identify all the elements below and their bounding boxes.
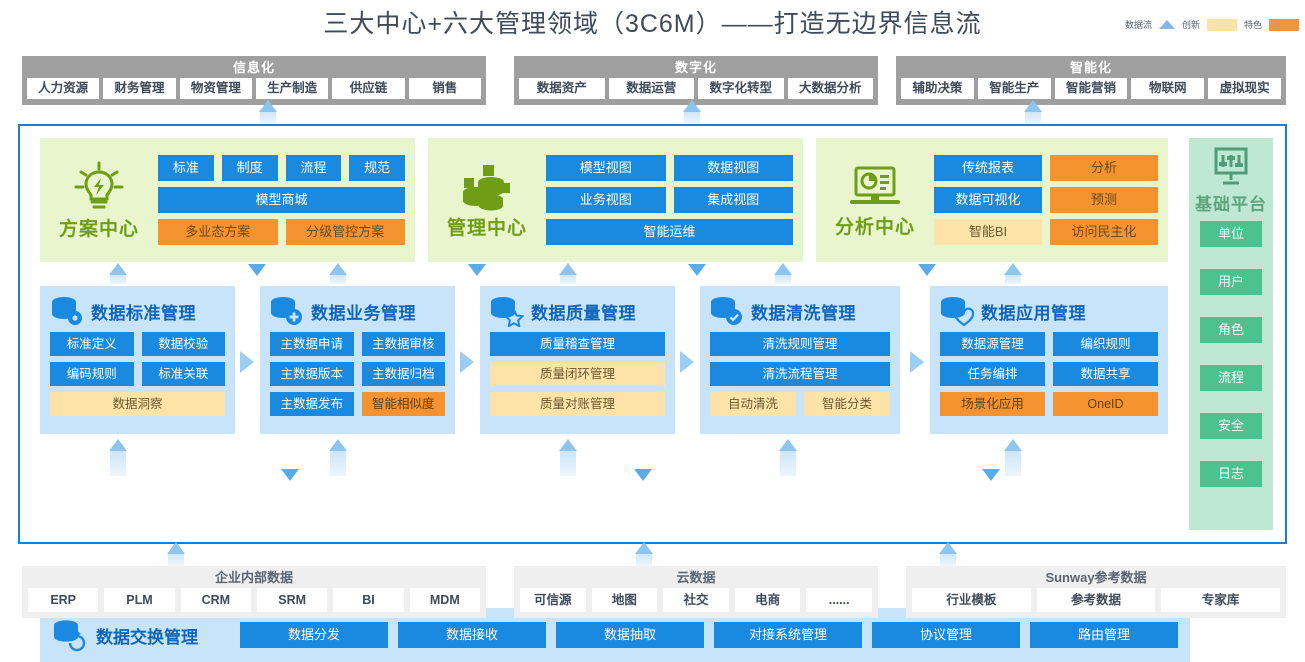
group-title: 云数据 bbox=[516, 568, 876, 588]
card-chip[interactable]: 智能分类 bbox=[804, 392, 890, 416]
flow-arrow-down-icon bbox=[248, 264, 266, 276]
group-item[interactable]: 专家库 bbox=[1161, 588, 1280, 612]
diagram-canvas: 三大中心+六大管理领域（3C6M）——打造无边界信息流 数据流 创新 特色 信息… bbox=[0, 0, 1305, 633]
flow-arrow-up-icon bbox=[774, 263, 792, 275]
flow-stem bbox=[330, 450, 346, 476]
chip-row: 主数据申请 主数据审核 bbox=[270, 332, 445, 356]
flow-stem bbox=[110, 274, 126, 284]
center-chips: 传统报表 分析 数据可视化 预测 智能BI 访问民主化 bbox=[934, 155, 1168, 245]
chip-row: 业务视图 集成视图 bbox=[546, 187, 793, 213]
group-item[interactable]: 虚拟现实 bbox=[1208, 78, 1281, 99]
exchange-item[interactable]: 数据接收 bbox=[398, 622, 546, 648]
card-body: 标准定义 数据校验 编码规则 标准关联 数据洞察 bbox=[50, 332, 225, 416]
card-chip[interactable]: 任务编排 bbox=[940, 362, 1045, 386]
platform-item[interactable]: 单位 bbox=[1200, 221, 1262, 247]
card-title: 数据业务管理 bbox=[311, 299, 416, 324]
group-title: 智能化 bbox=[898, 58, 1284, 78]
card-chip[interactable]: 场景化应用 bbox=[940, 392, 1045, 416]
flow-arrow-up-icon bbox=[167, 542, 185, 554]
group-title: 数字化 bbox=[516, 58, 876, 78]
group-item[interactable]: 物资管理 bbox=[180, 78, 252, 99]
card-chip[interactable]: 数据校验 bbox=[142, 332, 226, 356]
center-name: 方案中心 bbox=[59, 214, 139, 241]
flow-arrow-up-icon bbox=[635, 542, 653, 554]
card-header: 数据标准管理 bbox=[50, 294, 225, 328]
chip-row: 多业态方案 分级管控方案 bbox=[158, 219, 405, 245]
group-item[interactable]: 参考数据 bbox=[1037, 588, 1156, 612]
chip-row: 场景化应用 OneID bbox=[940, 392, 1158, 416]
chip-row: 质量对账管理 bbox=[490, 392, 665, 416]
chip-row: 模型商城 bbox=[158, 187, 405, 213]
flow-arrow-up-icon bbox=[559, 439, 577, 451]
flow-stem bbox=[260, 110, 276, 124]
group-item[interactable]: MDM bbox=[410, 588, 480, 612]
group-items: 可信源 地图 社交 电商 ...... bbox=[516, 588, 876, 616]
chip-row: 数据洞察 bbox=[50, 392, 225, 416]
legend-swatch-innovation bbox=[1207, 19, 1237, 31]
main-board: 方案中心 标准 制度 流程 规范 模型商城 多业态方案 分级管控方案 bbox=[18, 124, 1287, 544]
chip-row: 质量稽查管理 bbox=[490, 332, 665, 356]
group-item[interactable]: BI bbox=[333, 588, 403, 612]
group-item[interactable]: 行业模板 bbox=[912, 588, 1031, 612]
database-sync-icon bbox=[52, 618, 88, 652]
database-star-icon bbox=[490, 295, 524, 327]
center-chip[interactable]: 集成视图 bbox=[674, 187, 794, 213]
card-header: 数据质量管理 bbox=[490, 294, 665, 328]
chip-row: 模型视图 数据视图 bbox=[546, 155, 793, 181]
top-group-intelligence: 智能化 辅助决策 智能生产 智能营销 物联网 虚拟现实 bbox=[896, 56, 1286, 105]
center-chip[interactable]: 智能运维 bbox=[546, 219, 793, 245]
chip-row: 清洗规则管理 bbox=[710, 332, 890, 356]
platform-item[interactable]: 角色 bbox=[1200, 317, 1262, 343]
card-chip[interactable]: 质量对账管理 bbox=[490, 392, 665, 416]
flow-arrow-right-icon bbox=[240, 351, 254, 373]
page-title: 三大中心+六大管理领域（3C6M）——打造无边界信息流 bbox=[0, 4, 1305, 40]
card-header: 数据应用管理 bbox=[940, 294, 1158, 328]
group-title: 信息化 bbox=[24, 58, 484, 78]
group-items: 辅助决策 智能生产 智能营销 物联网 虚拟现实 bbox=[898, 78, 1284, 103]
center-solution: 方案中心 标准 制度 流程 规范 模型商城 多业态方案 分级管控方案 bbox=[40, 138, 415, 262]
chip-row: 智能运维 bbox=[546, 219, 793, 245]
card-chip[interactable]: 数据源管理 bbox=[940, 332, 1045, 356]
flow-stem bbox=[560, 274, 576, 284]
platform-item[interactable]: 日志 bbox=[1200, 461, 1262, 487]
group-title: 企业内部数据 bbox=[24, 568, 484, 588]
center-identity: 管理中心 bbox=[428, 161, 546, 240]
flow-stem bbox=[110, 450, 126, 476]
flow-arrow-up-icon bbox=[109, 263, 127, 275]
card-data-business: 数据业务管理 主数据申请 主数据审核 主数据版本 主数据归档 主数据发布 智能相… bbox=[260, 286, 455, 434]
chip-row: 质量闭环管理 bbox=[490, 362, 665, 386]
database-heart-icon bbox=[940, 295, 974, 327]
flow-stem bbox=[168, 552, 184, 566]
group-item[interactable]: 生产制造 bbox=[256, 78, 328, 99]
lightbulb-icon bbox=[71, 160, 127, 212]
bottom-group-enterprise-data: 企业内部数据 ERP PLM CRM SRM BI MDM bbox=[22, 566, 486, 618]
chip-row: 传统报表 分析 bbox=[934, 155, 1158, 181]
center-chip[interactable]: 数据可视化 bbox=[934, 187, 1042, 213]
group-item[interactable]: 数据运营 bbox=[609, 78, 695, 99]
center-management: 管理中心 模型视图 数据视图 业务视图 集成视图 智能运维 bbox=[428, 138, 803, 262]
flow-stem bbox=[636, 552, 652, 566]
platform-name: 基础平台 bbox=[1195, 190, 1267, 215]
exchange-item[interactable]: 协议管理 bbox=[872, 622, 1020, 648]
group-item[interactable]: 智能生产 bbox=[978, 78, 1051, 99]
group-item[interactable]: 供应链 bbox=[332, 78, 404, 99]
group-item[interactable]: 辅助决策 bbox=[901, 78, 974, 99]
card-data-application: 数据应用管理 数据源管理 编织规则 任务编排 数据共享 场景化应用 OneID bbox=[930, 286, 1168, 434]
flow-arrow-up-icon bbox=[329, 263, 347, 275]
group-item[interactable]: 社交 bbox=[663, 588, 729, 612]
card-chip[interactable]: 编码规则 bbox=[50, 362, 134, 386]
flow-stem bbox=[330, 274, 346, 284]
group-item[interactable]: 销售 bbox=[409, 78, 481, 99]
platform-panel: 基础平台 单位 用户 角色 流程 安全 日志 bbox=[1189, 138, 1273, 530]
center-chip[interactable]: 分析 bbox=[1050, 155, 1158, 181]
database-plus-icon bbox=[270, 295, 304, 327]
flow-arrow-up-icon bbox=[1004, 439, 1022, 451]
platform-item[interactable]: 安全 bbox=[1200, 413, 1262, 439]
card-chip[interactable]: 清洗流程管理 bbox=[710, 362, 890, 386]
exchange-header: 数据交换管理 bbox=[52, 618, 230, 652]
group-item[interactable]: SRM bbox=[257, 588, 327, 612]
center-chip[interactable]: 模型商城 bbox=[158, 187, 405, 213]
flow-arrow-up-icon bbox=[939, 542, 957, 554]
center-analysis: 分析中心 传统报表 分析 数据可视化 预测 智能BI 访问民主化 bbox=[816, 138, 1168, 262]
flow-arrow-up-icon bbox=[1004, 263, 1022, 275]
center-identity: 分析中心 bbox=[816, 162, 934, 239]
group-item[interactable]: 可信源 bbox=[520, 588, 586, 612]
card-chip[interactable]: 主数据申请 bbox=[270, 332, 354, 356]
chip-row: 主数据版本 主数据归档 bbox=[270, 362, 445, 386]
group-items: ERP PLM CRM SRM BI MDM bbox=[24, 588, 484, 616]
card-header: 数据清洗管理 bbox=[710, 294, 890, 328]
group-items: 行业模板 参考数据 专家库 bbox=[908, 588, 1284, 616]
flow-arrow-up-icon bbox=[683, 100, 701, 112]
chip-row: 智能BI 访问民主化 bbox=[934, 219, 1158, 245]
flow-arrow-down-icon bbox=[281, 469, 299, 481]
flow-arrow-up-icon bbox=[1024, 100, 1042, 112]
database-gear-icon bbox=[50, 295, 84, 327]
center-chip[interactable]: 业务视图 bbox=[546, 187, 666, 213]
chip-row: 标准 制度 流程 规范 bbox=[158, 155, 405, 181]
card-body: 数据源管理 编织规则 任务编排 数据共享 场景化应用 OneID bbox=[940, 332, 1158, 416]
card-header: 数据业务管理 bbox=[270, 294, 445, 328]
database-check-icon bbox=[710, 295, 744, 327]
group-item[interactable]: 智能营销 bbox=[1055, 78, 1128, 99]
chip-row: 任务编排 数据共享 bbox=[940, 362, 1158, 386]
center-chip[interactable]: 分级管控方案 bbox=[286, 219, 406, 245]
card-chip[interactable]: 标准定义 bbox=[50, 332, 134, 356]
flow-stem bbox=[560, 450, 576, 476]
card-body: 清洗规则管理 清洗流程管理 自动清洗 智能分类 bbox=[710, 332, 890, 416]
group-item[interactable]: 财务管理 bbox=[103, 78, 175, 99]
chip-row: 数据源管理 编织规则 bbox=[940, 332, 1158, 356]
group-item[interactable]: 地图 bbox=[592, 588, 658, 612]
card-chip[interactable]: OneID bbox=[1053, 392, 1158, 416]
group-item[interactable]: PLM bbox=[104, 588, 174, 612]
flow-arrow-down-icon bbox=[634, 469, 652, 481]
legend-swatch-feature bbox=[1269, 19, 1299, 31]
flow-arrow-up-icon bbox=[779, 439, 797, 451]
card-chip[interactable]: 数据洞察 bbox=[50, 392, 225, 416]
exchange-item[interactable]: 数据分发 bbox=[240, 622, 388, 648]
flow-arrow-down-icon bbox=[918, 264, 936, 276]
exchange-title: 数据交换管理 bbox=[96, 623, 198, 648]
center-chip[interactable]: 预测 bbox=[1050, 187, 1158, 213]
card-chip[interactable]: 主数据发布 bbox=[270, 392, 354, 416]
group-item[interactable]: 数字化转型 bbox=[698, 78, 784, 99]
arrow-up-icon bbox=[1159, 20, 1175, 29]
card-chip[interactable]: 自动清洗 bbox=[710, 392, 796, 416]
card-data-quality: 数据质量管理 质量稽查管理 质量闭环管理 质量对账管理 bbox=[480, 286, 675, 434]
group-item[interactable]: 人力资源 bbox=[27, 78, 99, 99]
flow-arrow-down-icon bbox=[688, 264, 706, 276]
card-chip[interactable]: 主数据审核 bbox=[362, 332, 446, 356]
center-chip[interactable]: 标准 bbox=[158, 155, 214, 181]
card-chip[interactable]: 标准关联 bbox=[142, 362, 226, 386]
flow-stem bbox=[940, 552, 956, 566]
center-chip[interactable]: 流程 bbox=[286, 155, 342, 181]
card-chip[interactable]: 智能相似度 bbox=[362, 392, 446, 416]
platform-item[interactable]: 用户 bbox=[1200, 269, 1262, 295]
card-chip[interactable]: 编织规则 bbox=[1053, 332, 1158, 356]
center-chips: 标准 制度 流程 规范 模型商城 多业态方案 分级管控方案 bbox=[158, 155, 415, 245]
legend-label-innovation: 创新 bbox=[1182, 18, 1200, 31]
chip-row: 编码规则 标准关联 bbox=[50, 362, 225, 386]
database-stack-icon bbox=[458, 161, 516, 211]
flow-stem bbox=[684, 110, 700, 124]
card-chip[interactable]: 主数据版本 bbox=[270, 362, 354, 386]
card-data-cleansing: 数据清洗管理 清洗规则管理 清洗流程管理 自动清洗 智能分类 bbox=[700, 286, 900, 434]
group-item[interactable]: ...... bbox=[806, 588, 872, 612]
center-chip[interactable]: 制度 bbox=[222, 155, 278, 181]
legend-label-dataflow: 数据流 bbox=[1125, 18, 1152, 31]
chip-row: 数据可视化 预测 bbox=[934, 187, 1158, 213]
bottom-group-cloud-data: 云数据 可信源 地图 社交 电商 ...... bbox=[514, 566, 878, 618]
top-group-digitalization: 数字化 数据资产 数据运营 数字化转型 大数据分析 bbox=[514, 56, 878, 105]
center-chip[interactable]: 智能BI bbox=[934, 219, 1042, 245]
platform-item[interactable]: 流程 bbox=[1200, 365, 1262, 391]
control-panel-icon bbox=[1209, 146, 1253, 188]
flow-arrow-up-icon bbox=[109, 439, 127, 451]
flow-stem bbox=[1025, 110, 1041, 124]
card-body: 主数据申请 主数据审核 主数据版本 主数据归档 主数据发布 智能相似度 bbox=[270, 332, 445, 416]
group-item[interactable]: 大数据分析 bbox=[788, 78, 874, 99]
group-item[interactable]: 电商 bbox=[735, 588, 801, 612]
chip-row: 主数据发布 智能相似度 bbox=[270, 392, 445, 416]
group-item[interactable]: ERP bbox=[28, 588, 98, 612]
flow-stem bbox=[1005, 274, 1021, 284]
exchange-item[interactable]: 数据抽取 bbox=[556, 622, 704, 648]
card-title: 数据清洗管理 bbox=[751, 299, 856, 324]
center-name: 管理中心 bbox=[447, 213, 527, 240]
card-title: 数据标准管理 bbox=[91, 299, 196, 324]
group-item[interactable]: 物联网 bbox=[1131, 78, 1204, 99]
card-title: 数据质量管理 bbox=[531, 299, 636, 324]
chip-row: 自动清洗 智能分类 bbox=[710, 392, 890, 416]
center-chip[interactable]: 数据视图 bbox=[674, 155, 794, 181]
legend: 数据流 创新 特色 bbox=[1125, 18, 1299, 31]
group-item[interactable]: 数据资产 bbox=[519, 78, 605, 99]
group-title: Sunway参考数据 bbox=[908, 568, 1284, 588]
flow-arrow-down-icon bbox=[982, 469, 1000, 481]
exchange-item[interactable]: 路由管理 bbox=[1030, 622, 1178, 648]
center-chip[interactable]: 访问民主化 bbox=[1050, 219, 1158, 245]
flow-arrow-down-icon bbox=[468, 264, 486, 276]
center-identity: 方案中心 bbox=[40, 160, 158, 241]
flow-arrow-up-icon bbox=[259, 100, 277, 112]
flow-arrow-right-icon bbox=[680, 351, 694, 373]
center-chip[interactable]: 规范 bbox=[349, 155, 405, 181]
top-group-informatization: 信息化 人力资源 财务管理 物资管理 生产制造 供应链 销售 bbox=[22, 56, 486, 105]
card-chip[interactable]: 质量闭环管理 bbox=[490, 362, 665, 386]
flow-arrow-right-icon bbox=[460, 351, 474, 373]
chip-row: 标准定义 数据校验 bbox=[50, 332, 225, 356]
center-chip[interactable]: 模型视图 bbox=[546, 155, 666, 181]
flow-arrow-up-icon bbox=[329, 439, 347, 451]
card-chip[interactable]: 主数据归档 bbox=[362, 362, 446, 386]
center-name: 分析中心 bbox=[835, 212, 915, 239]
flow-arrow-right-icon bbox=[910, 351, 924, 373]
group-item[interactable]: CRM bbox=[181, 588, 251, 612]
flow-stem bbox=[1005, 450, 1021, 476]
flow-stem bbox=[780, 450, 796, 476]
card-chip[interactable]: 清洗规则管理 bbox=[710, 332, 890, 356]
chip-row: 清洗流程管理 bbox=[710, 362, 890, 386]
center-chip[interactable]: 多业态方案 bbox=[158, 219, 278, 245]
center-chip[interactable]: 传统报表 bbox=[934, 155, 1042, 181]
center-chips: 模型视图 数据视图 业务视图 集成视图 智能运维 bbox=[546, 155, 803, 245]
bottom-group-sunway-reference-data: Sunway参考数据 行业模板 参考数据 专家库 bbox=[906, 566, 1286, 618]
flow-arrow-up-icon bbox=[559, 263, 577, 275]
flow-stem bbox=[775, 274, 791, 284]
chart-laptop-icon bbox=[846, 162, 904, 210]
group-items: 人力资源 财务管理 物资管理 生产制造 供应链 销售 bbox=[24, 78, 484, 103]
legend-label-feature: 特色 bbox=[1244, 18, 1262, 31]
card-chip[interactable]: 质量稽查管理 bbox=[490, 332, 665, 356]
exchange-item[interactable]: 对接系统管理 bbox=[714, 622, 862, 648]
card-data-standard: 数据标准管理 标准定义 数据校验 编码规则 标准关联 数据洞察 bbox=[40, 286, 235, 434]
card-body: 质量稽查管理 质量闭环管理 质量对账管理 bbox=[490, 332, 665, 416]
card-chip[interactable]: 数据共享 bbox=[1053, 362, 1158, 386]
card-title: 数据应用管理 bbox=[981, 299, 1086, 324]
